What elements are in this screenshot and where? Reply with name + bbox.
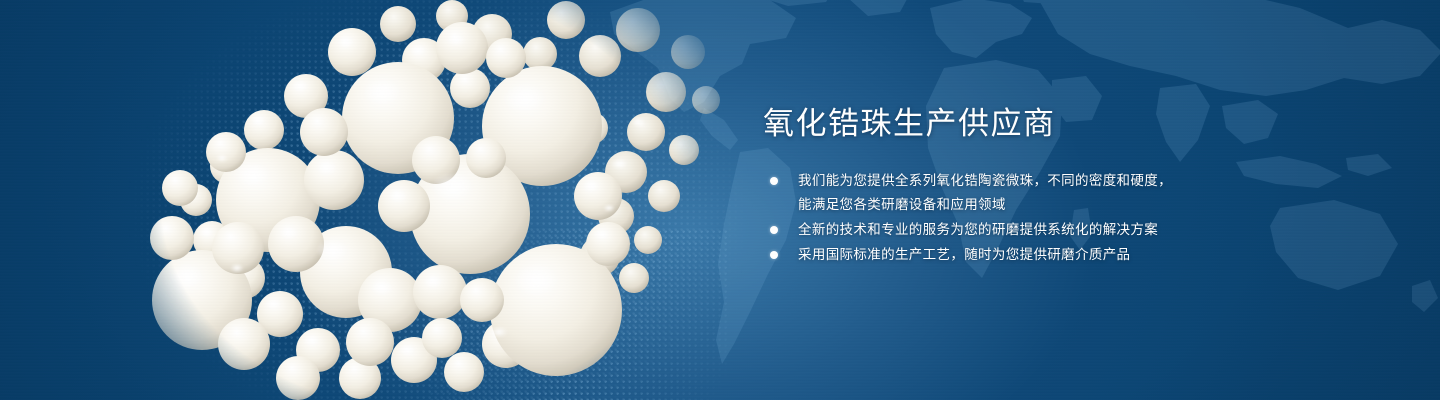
page-title: 氧化锆珠生产供应商 <box>763 104 1363 144</box>
list-item: 我们能为您提供全系列氧化锆陶瓷微珠，不同的密度和硬度， 能满足您各类研磨设备和应… <box>763 169 1363 217</box>
banner-copy-block: 氧化锆珠生产供应商 我们能为您提供全系列氧化锆陶瓷微珠，不同的密度和硬度， 能满… <box>763 104 1363 268</box>
hero-banner: 氧化锆珠生产供应商 我们能为您提供全系列氧化锆陶瓷微珠，不同的密度和硬度， 能满… <box>0 0 1440 400</box>
bullet-text-line2: 能满足您各类研磨设备和应用领域 <box>798 193 1363 217</box>
bullet-text-line1: 全新的技术和专业的服务为您的研磨提供系统化的解决方案 <box>798 222 1158 237</box>
bullet-dot-icon <box>770 251 778 259</box>
list-item: 全新的技术和专业的服务为您的研磨提供系统化的解决方案 <box>763 218 1363 242</box>
list-item: 采用国际标准的生产工艺，随时为您提供研磨介质产品 <box>763 243 1363 267</box>
bullet-text-line1: 我们能为您提供全系列氧化锆陶瓷微珠，不同的密度和硬度， <box>798 173 1172 188</box>
bullet-dot-icon <box>770 177 778 185</box>
bullet-text-line1: 采用国际标准的生产工艺，随时为您提供研磨介质产品 <box>798 247 1130 262</box>
feature-bullet-list: 我们能为您提供全系列氧化锆陶瓷微珠，不同的密度和硬度， 能满足您各类研磨设备和应… <box>763 169 1363 267</box>
bullet-dot-icon <box>770 226 778 234</box>
